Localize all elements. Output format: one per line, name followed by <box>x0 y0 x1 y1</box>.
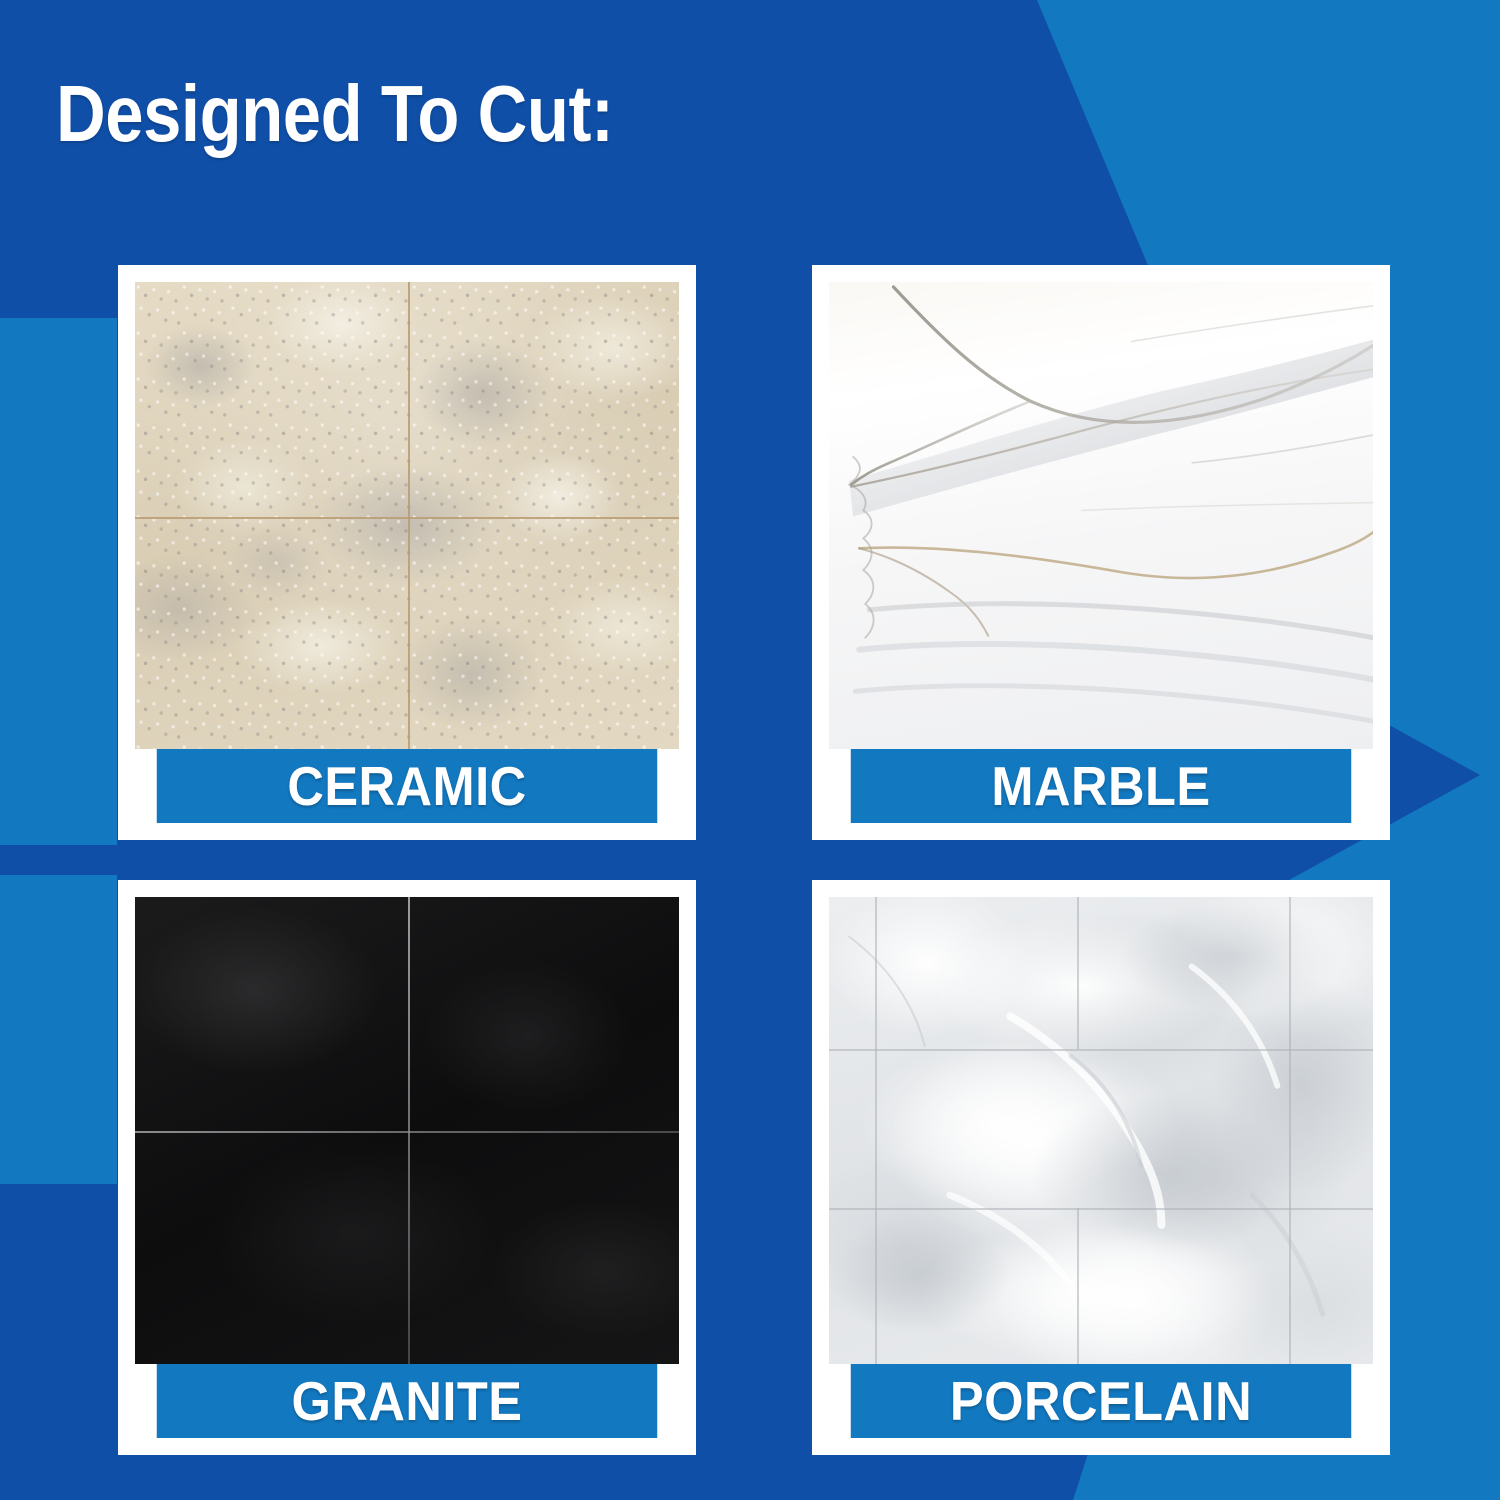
material-card-marble[interactable]: MARBLE <box>812 265 1390 840</box>
tile-joint-vertical <box>1289 1049 1291 1208</box>
page-title: Designed To Cut: <box>56 72 613 156</box>
card-label-porcelain: PORCELAIN <box>851 1364 1351 1438</box>
tile-joint-vertical <box>1077 897 1079 1049</box>
tile-joint-vertical <box>875 1208 877 1364</box>
card-label-ceramic: CERAMIC <box>157 749 657 823</box>
grout-line-horizontal <box>135 517 679 519</box>
granite-tile-swatch <box>135 897 679 1364</box>
porcelain-tile-swatch <box>829 897 1373 1364</box>
tile-joint-vertical <box>1289 897 1291 1049</box>
ceramic-texture <box>135 282 679 749</box>
left-accent-strip <box>0 318 117 1184</box>
tile-joint-vertical <box>1077 1208 1079 1364</box>
material-card-ceramic[interactable]: CERAMIC <box>118 265 696 840</box>
marble-vein-overlay <box>829 282 1373 749</box>
tile-joint-vertical <box>875 1049 877 1208</box>
card-label-marble: MARBLE <box>851 749 1351 823</box>
grout-line-vertical <box>408 282 410 749</box>
material-card-grid: CERAMIC <box>118 265 1390 1470</box>
infographic-canvas: Designed To Cut: CERAMIC <box>0 0 1500 1500</box>
material-card-porcelain[interactable]: PORCELAIN <box>812 880 1390 1455</box>
tile-joint-vertical <box>875 897 877 1049</box>
tile-joint-horizontal <box>829 1049 1373 1051</box>
material-card-granite[interactable]: GRANITE <box>118 880 696 1455</box>
marble-texture <box>829 282 1373 749</box>
tile-joint-horizontal <box>829 1208 1373 1210</box>
card-label-granite: GRANITE <box>157 1364 657 1438</box>
ceramic-tile-swatch <box>135 282 679 749</box>
granite-texture <box>135 897 679 1364</box>
grout-line-horizontal <box>135 1131 679 1133</box>
tile-joint-vertical <box>1289 1208 1291 1364</box>
marble-slab-swatch <box>829 282 1373 749</box>
porcelain-cloud-overlay <box>829 897 1373 1364</box>
porcelain-texture <box>829 897 1373 1364</box>
